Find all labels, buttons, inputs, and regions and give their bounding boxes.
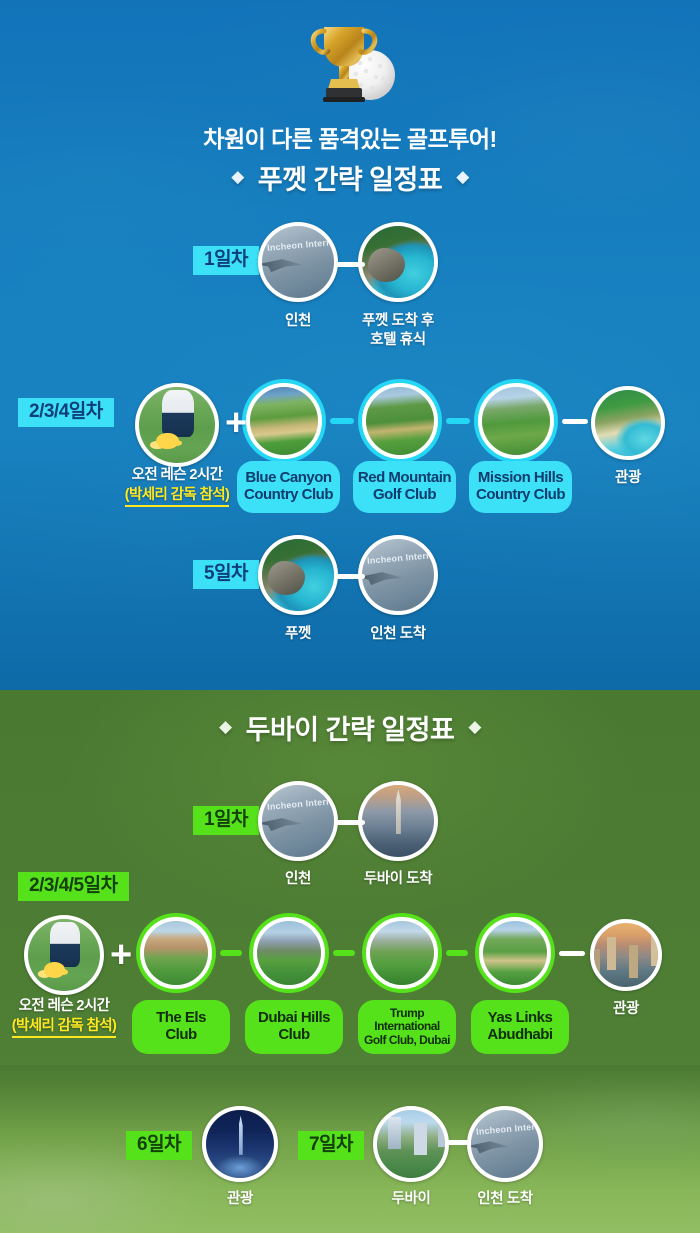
club-pill-mission-hills[interactable]: Mission Hills Country Club	[469, 461, 572, 513]
photo-incheon-airport: Incheon International	[258, 781, 338, 861]
club-pill-red-mountain[interactable]: Red Mountain Golf Club	[353, 461, 456, 513]
photo-incheon-airport: Incheon International	[258, 222, 338, 302]
photo-blue-canyon	[246, 383, 322, 459]
plus-sign-dubai: +	[110, 936, 132, 974]
node-dubai-club-3	[366, 917, 438, 989]
club-name: Red Mountain Golf Club	[358, 470, 451, 504]
photo-phuket-resort	[591, 386, 665, 460]
node-phuket-tour	[591, 386, 665, 460]
photo-mission-hills	[478, 383, 554, 459]
node-dubai-club-1	[140, 917, 212, 989]
photo-dubai-night-skyline	[202, 1106, 278, 1182]
node-dubai-d1-arrival	[358, 781, 438, 861]
day-badge-dubai-2345: 2/3/4/5일차	[18, 872, 129, 901]
connector-line	[330, 418, 354, 424]
day-badge-dubai-1: 1일차	[193, 806, 259, 835]
lesson-line-2: (박세리 감독 참석)	[12, 1017, 117, 1038]
connector-line	[562, 419, 588, 424]
photo-golf-lesson	[24, 915, 104, 995]
node-dubai-club-4	[479, 917, 551, 989]
connector-line	[335, 262, 365, 267]
diamond-right-icon: ◆	[456, 168, 469, 185]
club-pill-yas-links[interactable]: Yas Links Abudhabi	[471, 1000, 569, 1054]
node-phuket-d1-incheon: Incheon International	[258, 222, 338, 302]
caption-dubai-tour: 관광	[576, 1000, 676, 1019]
node-dubai-tour	[590, 919, 662, 991]
club-pill-blue-canyon[interactable]: Blue Canyon Country Club	[237, 461, 340, 513]
section-title-text: 두바이 간략 일정표	[246, 708, 455, 747]
connector-line	[447, 1140, 469, 1145]
infographic-page: 차원이 다른 품격있는 골프투어! ◆ 푸껫 간략 일정표 ◆ 1일차 Inch…	[0, 0, 700, 1233]
lesson-label-dubai: 오전 레슨 2시간 (박세리 감독 참석)	[0, 997, 135, 1038]
photo-dubai-city	[373, 1106, 449, 1182]
caption-dubai-d6-tour: 관광	[190, 1190, 290, 1209]
day-badge-dubai-7: 7일차	[298, 1131, 364, 1160]
lesson-label-phuket: 오전 레슨 2시간 (박세리 감독 참석)	[106, 466, 248, 507]
node-dubai-d7-incheon: Incheon International	[467, 1106, 543, 1182]
node-phuket-club-1	[246, 383, 322, 459]
photo-els-club	[140, 917, 212, 989]
diamond-left-icon: ◆	[231, 168, 244, 185]
club-name: Trump International Golf Club, Dubai	[364, 1007, 450, 1047]
node-phuket-d5-phuket	[258, 535, 338, 615]
plus-sign-phuket: +	[225, 404, 247, 442]
caption-phuket-d1-arrival: 푸껫 도착 후 호텔 휴식	[338, 312, 458, 349]
club-name: The Els Club	[156, 1010, 206, 1044]
photo-phuket-beach	[258, 535, 338, 615]
club-name: Mission Hills Country Club	[476, 470, 565, 504]
trophy-golf-ball-icon	[0, 8, 700, 104]
connector-line	[446, 950, 468, 956]
day-badge-phuket-234: 2/3/4일차	[18, 398, 114, 427]
caption-phuket-tour: 관광	[578, 469, 678, 488]
day-badge-dubai-6: 6일차	[126, 1131, 192, 1160]
node-dubai-d7-dubai	[373, 1106, 449, 1182]
connector-line	[446, 418, 470, 424]
club-pill-trump-international[interactable]: Trump International Golf Club, Dubai	[358, 1000, 456, 1054]
lesson-line-1: 오전 레슨 2시간	[0, 997, 135, 1016]
club-name: Dubai Hills Club	[258, 1010, 330, 1044]
club-pill-dubai-hills[interactable]: Dubai Hills Club	[245, 1000, 343, 1054]
caption-phuket-d5-incheon: 인천 도착	[338, 625, 458, 644]
diamond-left-icon: ◆	[219, 718, 232, 735]
photo-dubai-hills	[253, 917, 325, 989]
caption-dubai-d1-arrival: 두바이 도착	[338, 870, 458, 889]
day-badge-phuket-5: 5일차	[193, 560, 259, 589]
photo-incheon-airport: Incheon International	[467, 1106, 543, 1182]
connector-line	[333, 950, 355, 956]
connector-line	[559, 951, 585, 956]
photo-incheon-airport: Incheon International	[358, 535, 438, 615]
node-dubai-lesson	[24, 915, 104, 995]
photo-watermark: Incheon International	[267, 797, 334, 813]
node-dubai-club-2	[253, 917, 325, 989]
photo-burj-khalifa	[358, 781, 438, 861]
photo-watermark: Incheon International	[367, 551, 434, 567]
photo-golf-lesson	[135, 383, 219, 467]
photo-phuket-beach	[358, 222, 438, 302]
node-phuket-club-2	[362, 383, 438, 459]
club-pill-els-club[interactable]: The Els Club	[132, 1000, 230, 1054]
lesson-line-2: (박세리 감독 참석)	[125, 486, 230, 507]
caption-dubai-d7-incheon: 인천 도착	[455, 1190, 555, 1209]
connector-line	[335, 574, 365, 579]
node-phuket-d5-incheon: Incheon International	[358, 535, 438, 615]
node-phuket-d1-arrival	[358, 222, 438, 302]
caption-dubai-d7-dubai: 두바이	[361, 1190, 461, 1209]
connector-line	[220, 950, 242, 956]
connector-line	[335, 820, 365, 825]
lesson-line-1: 오전 레슨 2시간	[106, 466, 248, 485]
section-title-dubai: ◆ 두바이 간략 일정표 ◆	[0, 708, 700, 747]
day-badge-phuket-1: 1일차	[193, 246, 259, 275]
section-title-text: 푸껫 간략 일정표	[258, 158, 442, 197]
page-tagline: 차원이 다른 품격있는 골프투어!	[0, 120, 700, 154]
diamond-right-icon: ◆	[468, 718, 481, 735]
node-dubai-d6-tour	[202, 1106, 278, 1182]
node-dubai-d1-incheon: Incheon International	[258, 781, 338, 861]
node-phuket-club-3	[478, 383, 554, 459]
photo-watermark: Incheon International	[267, 238, 334, 254]
photo-trump-international	[366, 917, 438, 989]
club-name: Yas Links Abudhabi	[487, 1010, 552, 1044]
section-title-phuket: ◆ 푸껫 간략 일정표 ◆	[0, 158, 700, 197]
club-name: Blue Canyon Country Club	[244, 470, 333, 504]
photo-dubai-skyline	[590, 919, 662, 991]
photo-red-mountain	[362, 383, 438, 459]
photo-watermark: Incheon International	[475, 1121, 538, 1136]
photo-yas-links	[479, 917, 551, 989]
node-phuket-lesson	[135, 383, 219, 467]
